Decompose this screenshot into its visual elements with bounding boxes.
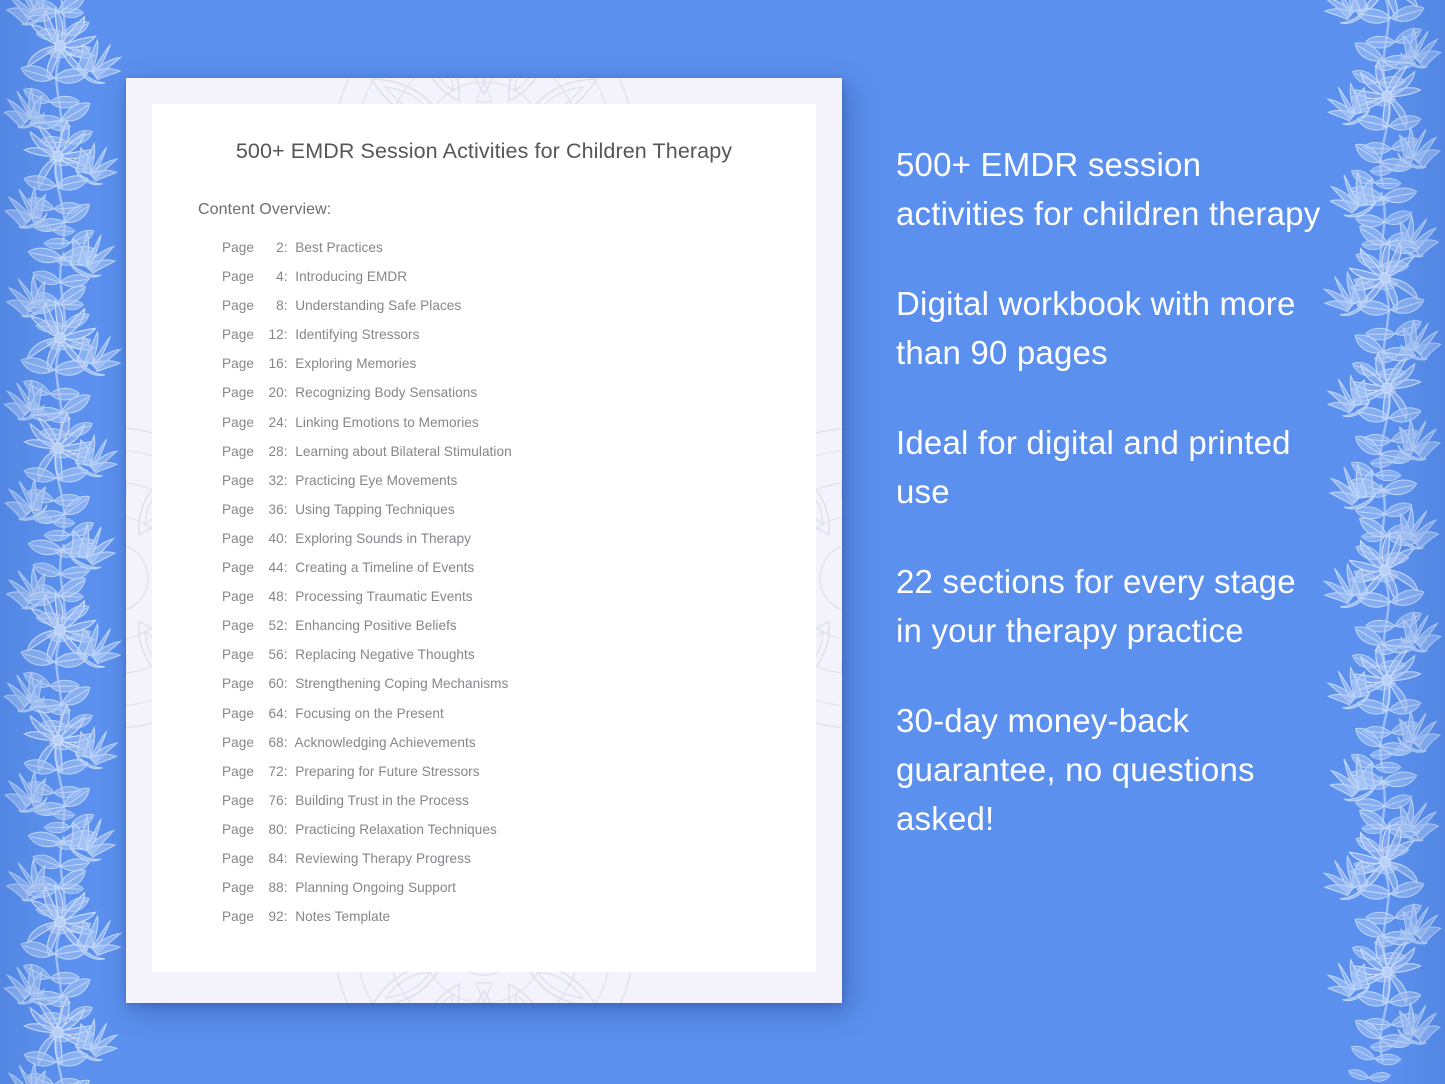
toc-page-word: Page	[222, 466, 254, 495]
toc-page-number: 4	[258, 262, 284, 291]
toc-page-word: Page	[222, 524, 254, 553]
toc-entry-title: Linking Emotions to Memories	[295, 415, 478, 430]
toc-entry-title: Best Practices	[295, 240, 383, 255]
toc-entry-title: Exploring Memories	[295, 356, 416, 371]
toc-entry: Page 72: Preparing for Future Stressors	[222, 757, 816, 786]
toc-page-number: 52	[258, 611, 284, 640]
toc-entry: Page 52: Enhancing Positive Beliefs	[222, 611, 816, 640]
toc-page-number: 40	[258, 524, 284, 553]
toc-entry: Page 44: Creating a Timeline of Events	[222, 553, 816, 582]
right-edge-vignette	[1385, 0, 1445, 1084]
document-preview-card[interactable]: 500+ EMDR Session Activities for Childre…	[126, 78, 842, 1003]
toc-entry-title: Identifying Stressors	[295, 327, 419, 342]
toc-entry: Page 56: Replacing Negative Thoughts	[222, 640, 816, 669]
promo-line: Digital workbook with more than 90 pages	[896, 279, 1326, 377]
toc-page-word: Page	[222, 262, 254, 291]
toc-entry-title: Focusing on the Present	[295, 706, 444, 721]
toc-page-word: Page	[222, 640, 254, 669]
document-page: 500+ EMDR Session Activities for Childre…	[152, 104, 816, 972]
toc-entry: Page 32: Practicing Eye Movements	[222, 466, 816, 495]
toc-entry-title: Understanding Safe Places	[295, 298, 461, 313]
toc-entry: Page 88: Planning Ongoing Support	[222, 873, 816, 902]
floral-vine-left	[0, 0, 128, 1084]
toc-page-number: 72	[258, 757, 284, 786]
toc-page-word: Page	[222, 669, 254, 698]
toc-entry: Page 60: Strengthening Coping Mechanisms	[222, 669, 816, 698]
toc-page-number: 24	[258, 408, 284, 437]
toc-page-number: 8	[258, 291, 284, 320]
toc-entry: Page 4: Introducing EMDR	[222, 262, 816, 291]
toc-entry-title: Strengthening Coping Mechanisms	[295, 676, 508, 691]
floral-border-left	[0, 0, 128, 1084]
toc-entry: Page 24: Linking Emotions to Memories	[222, 408, 816, 437]
table-of-contents: Page 2: Best PracticesPage 4: Introducin…	[222, 233, 816, 931]
toc-page-word: Page	[222, 320, 254, 349]
toc-page-word: Page	[222, 291, 254, 320]
toc-entry: Page 40: Exploring Sounds in Therapy	[222, 524, 816, 553]
toc-entry: Page 8: Understanding Safe Places	[222, 291, 816, 320]
promo-line: Ideal for digital and printed use	[896, 418, 1326, 516]
toc-page-number: 80	[258, 815, 284, 844]
toc-entry-title: Recognizing Body Sensations	[295, 385, 477, 400]
toc-page-word: Page	[222, 495, 254, 524]
toc-page-number: 68	[258, 728, 284, 757]
toc-page-word: Page	[222, 408, 254, 437]
toc-entry-title: Building Trust in the Process	[295, 793, 469, 808]
toc-page-word: Page	[222, 873, 254, 902]
toc-entry-title: Exploring Sounds in Therapy	[295, 531, 471, 546]
toc-entry-title: Notes Template	[295, 909, 390, 924]
toc-page-word: Page	[222, 349, 254, 378]
toc-page-word: Page	[222, 437, 254, 466]
toc-page-number: 92	[258, 902, 284, 931]
promo-line: 500+ EMDR session activities for childre…	[896, 140, 1326, 238]
toc-page-word: Page	[222, 611, 254, 640]
toc-entry-title: Acknowledging Achievements	[295, 735, 476, 750]
toc-entry-title: Introducing EMDR	[295, 269, 407, 284]
toc-page-number: 76	[258, 786, 284, 815]
toc-entry-title: Practicing Relaxation Techniques	[295, 822, 497, 837]
toc-entry: Page 80: Practicing Relaxation Technique…	[222, 815, 816, 844]
toc-entry: Page 20: Recognizing Body Sensations	[222, 378, 816, 407]
toc-page-word: Page	[222, 699, 254, 728]
floral-vine-right	[1317, 0, 1445, 1084]
toc-page-number: 28	[258, 437, 284, 466]
toc-page-number: 56	[258, 640, 284, 669]
toc-entry: Page 64: Focusing on the Present	[222, 699, 816, 728]
toc-entry: Page 84: Reviewing Therapy Progress	[222, 844, 816, 873]
toc-page-word: Page	[222, 728, 254, 757]
toc-page-word: Page	[222, 757, 254, 786]
toc-page-word: Page	[222, 582, 254, 611]
toc-page-word: Page	[222, 553, 254, 582]
left-edge-vignette	[0, 0, 60, 1084]
toc-page-word: Page	[222, 815, 254, 844]
toc-entry-title: Creating a Timeline of Events	[295, 560, 474, 575]
toc-page-word: Page	[222, 233, 254, 262]
toc-page-word: Page	[222, 378, 254, 407]
toc-entry: Page 76: Building Trust in the Process	[222, 786, 816, 815]
toc-page-number: 64	[258, 699, 284, 728]
toc-entry-title: Planning Ongoing Support	[295, 880, 456, 895]
toc-page-number: 88	[258, 873, 284, 902]
toc-entry-title: Learning about Bilateral Stimulation	[295, 444, 511, 459]
toc-page-number: 60	[258, 669, 284, 698]
content-overview-label: Content Overview:	[198, 201, 816, 219]
toc-page-number: 2	[258, 233, 284, 262]
promo-line: 22 sections for every stage in your ther…	[896, 557, 1326, 655]
toc-page-number: 32	[258, 466, 284, 495]
toc-page-number: 36	[258, 495, 284, 524]
toc-entry: Page 48: Processing Traumatic Events	[222, 582, 816, 611]
toc-page-number: 44	[258, 553, 284, 582]
toc-entry: Page 2: Best Practices	[222, 233, 816, 262]
page-title: 500+ EMDR Session Activities for Childre…	[204, 136, 764, 167]
toc-entry: Page 28: Learning about Bilateral Stimul…	[222, 437, 816, 466]
toc-entry: Page 36: Using Tapping Techniques	[222, 495, 816, 524]
toc-entry-title: Using Tapping Techniques	[295, 502, 454, 517]
toc-entry-title: Processing Traumatic Events	[295, 589, 472, 604]
toc-page-number: 48	[258, 582, 284, 611]
toc-page-word: Page	[222, 844, 254, 873]
toc-entry-title: Replacing Negative Thoughts	[295, 647, 474, 662]
floral-border-right	[1317, 0, 1445, 1084]
toc-page-number: 20	[258, 378, 284, 407]
toc-entry: Page 92: Notes Template	[222, 902, 816, 931]
toc-page-number: 16	[258, 349, 284, 378]
toc-page-word: Page	[222, 902, 254, 931]
toc-entry: Page 12: Identifying Stressors	[222, 320, 816, 349]
toc-entry: Page 68: Acknowledging Achievements	[222, 728, 816, 757]
toc-page-word: Page	[222, 786, 254, 815]
promo-copy: 500+ EMDR session activities for childre…	[896, 140, 1326, 843]
toc-entry-title: Preparing for Future Stressors	[295, 764, 479, 779]
toc-entry-title: Enhancing Positive Beliefs	[295, 618, 457, 633]
toc-page-number: 12	[258, 320, 284, 349]
promo-line: 30-day money-back guarantee, no question…	[896, 696, 1326, 843]
toc-page-number: 84	[258, 844, 284, 873]
toc-entry-title: Reviewing Therapy Progress	[295, 851, 471, 866]
toc-entry-title: Practicing Eye Movements	[295, 473, 457, 488]
toc-entry: Page 16: Exploring Memories	[222, 349, 816, 378]
